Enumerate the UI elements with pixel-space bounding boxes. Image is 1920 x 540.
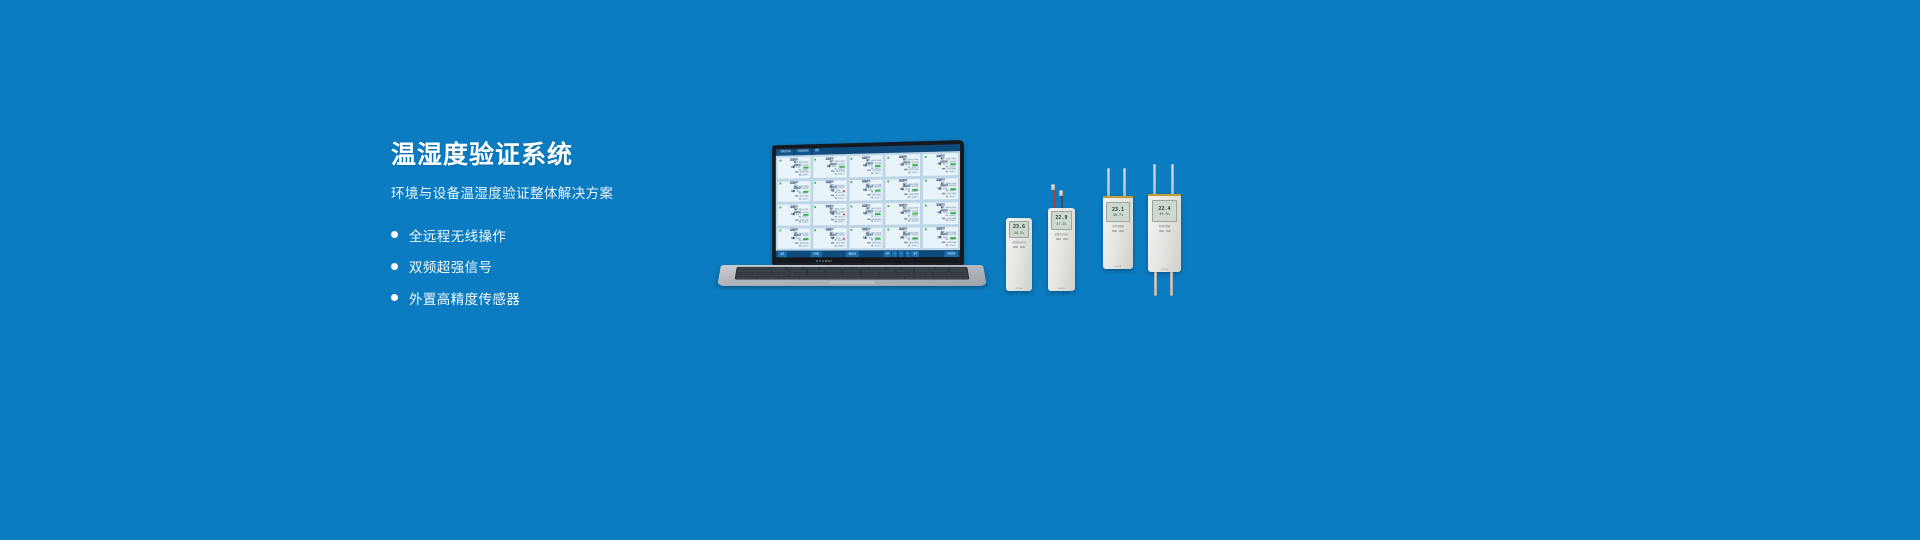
field-value: 22.93 °C <box>802 198 808 201</box>
sensor-card[interactable]: 温湿度01编号BD01-T1001采集时间10:22:08电量77.8%T122… <box>777 156 812 179</box>
field-label: 电量 <box>791 238 795 241</box>
lcd-temperature: 23.1 <box>1112 207 1124 213</box>
device-keypad[interactable] <box>1112 230 1124 233</box>
field-value: 23.02 °C <box>874 173 881 176</box>
page-2[interactable]: 2 <box>899 251 904 257</box>
device-keypad[interactable] <box>1159 230 1171 233</box>
laptop-screen: 温湿度记录仪 环境监测系统 帮助 温湿度01编号BD01-T1001采集时间10… <box>776 144 960 257</box>
field-label: 电量 <box>830 238 834 241</box>
sensor-card[interactable]: 温湿度20编号BD01-T1020采集时间10:22:08电量94.6%T122… <box>922 226 959 250</box>
field-value: 22.68 °C <box>802 174 808 177</box>
field-value: 23.10 °C <box>838 197 844 200</box>
status-led-icon <box>887 205 889 207</box>
status-led-icon <box>925 180 927 182</box>
lcd-humidity: 49.0% <box>1159 212 1169 216</box>
field-label: T2 <box>946 196 948 199</box>
app-toolbar: 更多 打印报 数据导出 首页 1 2 3 末页 退出登录 <box>776 250 960 257</box>
page-last[interactable]: 末页 <box>911 251 919 257</box>
laptop-touchpad <box>828 280 875 285</box>
laptop-base <box>717 265 987 286</box>
sensor-card[interactable]: 温湿度05编号BD01-T1005采集时间10:22:08电量91.5%T122… <box>922 152 959 176</box>
field-label: 电量 <box>900 189 904 192</box>
sensor-card[interactable]: 温湿度07编号BD01-T1007采集时间10:22:08电量12.4%T123… <box>812 179 847 202</box>
page-subtitle: 环境与设备温湿度验证整体解决方案 <box>391 185 721 204</box>
sensor-card[interactable]: 温湿度14编号BD01-T1014采集时间10:22:08电量92.1%T122… <box>885 202 921 226</box>
sensor-card-fields: 编号BD01-T1011采集时间10:22:08电量55.2%T122.99 °… <box>779 209 808 224</box>
sensor-card[interactable]: 温湿度08编号BD01-T1008采集时间10:22:08电量86.3%T122… <box>848 178 884 202</box>
sensor-card-fields: 编号BD01-T1013采集时间10:22:08电量83.7%T122.77 °… <box>851 208 881 224</box>
key <box>736 277 757 279</box>
field-label: 电量 <box>827 166 831 169</box>
status-led-icon <box>925 155 927 157</box>
device-key[interactable] <box>1020 246 1025 249</box>
field-label: T2 <box>908 196 910 199</box>
feature-label: 全远程无线操作 <box>409 225 506 245</box>
probe-tip <box>1051 184 1055 190</box>
status-led-icon <box>779 183 781 185</box>
field-label: 电量 <box>791 214 795 217</box>
sensor-card-row: T223.02 °C <box>851 173 881 176</box>
sensor-card-fields: 编号BD01-T1004采集时间10:22:08电量64.7%T122.81 °… <box>888 159 919 175</box>
status-led-icon <box>779 159 781 161</box>
field-label: T2 <box>835 174 837 177</box>
pagination: 首页 1 2 3 末页 <box>883 251 919 257</box>
field-label: T2 <box>946 245 948 248</box>
tab-recorder[interactable]: 温湿度记录仪 <box>779 149 793 155</box>
field-label: T2 <box>871 173 873 176</box>
sensor-card[interactable]: 温湿度18编号BD01-T1018采集时间10:22:08电量76.5%T122… <box>848 226 884 249</box>
field-label: 电量 <box>900 237 904 240</box>
field-label: 电量 <box>791 191 795 194</box>
field-label: T2 <box>799 198 801 201</box>
device-label: 温湿度记录仪 <box>1055 232 1069 236</box>
banner-copy: 温湿度验证系统 环境与设备温湿度验证整体解决方案 全远程无线操作 双频超强信号 … <box>391 140 721 319</box>
field-label: T2 <box>835 245 837 248</box>
field-value: 22.88 °C <box>912 196 919 199</box>
sensor-card-fields: 编号BD01-T1019采集时间10:22:08电量67.2%T122.90 °… <box>888 232 919 248</box>
lcd-temperature: 23.6 <box>1013 224 1025 230</box>
sensor-card-row: T223.05 °C <box>815 221 845 224</box>
field-label: T2 <box>908 245 910 248</box>
field-label: T2 <box>946 220 948 223</box>
sensor-card-row: T223.08 °C <box>815 245 845 248</box>
sensor-device-group: 23.6 48.2% 温湿度记录仪 BODA 22.9 47.5% <box>1000 182 1215 307</box>
field-label: 电量 <box>900 165 904 168</box>
field-label: 电量 <box>937 188 941 191</box>
list-item: 双频超强信号 <box>391 256 721 276</box>
print-button[interactable]: 打印报 <box>811 251 822 257</box>
gold-band <box>1103 196 1133 198</box>
laptop-lid: 温湿度记录仪 环境监测系统 帮助 温湿度01编号BD01-T1001采集时间10… <box>772 140 964 265</box>
handheld-logger-2: 22.9 47.5% 温湿度记录仪 BODA <box>1048 208 1075 291</box>
gold-band <box>1148 194 1181 196</box>
field-value: 22.77 °C <box>874 221 881 224</box>
field-label: 电量 <box>900 213 904 216</box>
export-button[interactable]: 数据导出 <box>846 251 859 257</box>
sensor-card[interactable]: 温湿度04编号BD01-T1004采集时间10:22:08电量64.7%T122… <box>885 153 921 177</box>
sensor-card[interactable]: 温湿度17编号BD01-T1017采集时间10:22:08电量10.9%T123… <box>812 227 847 250</box>
device-label: 外置传感器 <box>1159 224 1170 228</box>
page-3[interactable]: 3 <box>905 251 910 257</box>
sensor-card-row: T222.81 °C <box>888 172 919 175</box>
device-logo: BODA <box>1115 266 1121 268</box>
more-button[interactable]: 更多 <box>778 252 787 258</box>
sensor-card-grid: 温湿度01编号BD01-T1001采集时间10:22:08电量77.8%T122… <box>776 151 960 251</box>
list-item: 全远程无线操作 <box>391 225 721 245</box>
field-label: T2 <box>835 221 837 224</box>
lcd-humidity: 47.5% <box>1056 222 1066 226</box>
field-label: T2 <box>871 245 873 248</box>
device-logo: BODA <box>1058 288 1064 290</box>
sensor-card-fields: 编号BD01-T1007采集时间10:22:08电量12.4%T123.10 °… <box>815 185 845 201</box>
sensor-card-fields: 编号BD01-T1006采集时间10:22:08电量78.9%T122.93 °… <box>779 185 808 200</box>
spacebar <box>800 277 903 279</box>
sensor-card[interactable]: 温湿度09编号BD01-T1009采集时间10:22:08电量74.0%T122… <box>885 177 921 201</box>
field-value: 22.99 °C <box>802 222 808 225</box>
key <box>904 277 925 279</box>
product-banner: 温湿度验证系统 环境与设备温湿度验证整体解决方案 全远程无线操作 双频超强信号 … <box>0 0 1920 540</box>
sensor-card-row: T222.68 °C <box>779 174 808 177</box>
sensor-card-fields: 编号BD01-T1016采集时间10:22:08电量88.4%T122.95 °… <box>779 233 808 248</box>
antenna-right <box>1171 164 1174 198</box>
device-logo: BODA <box>1016 288 1022 290</box>
sensor-card-row: T222.64 °C <box>815 174 845 177</box>
field-value: 22.72 °C <box>874 197 881 200</box>
field-label: T2 <box>799 245 801 248</box>
probe-tip <box>1059 190 1063 196</box>
sensor-stem-left <box>1154 272 1157 296</box>
list-item: 外置高精度传感器 <box>391 288 721 308</box>
field-label: 电量 <box>830 190 834 193</box>
laptop-brand-label: HUAWEI <box>816 259 833 263</box>
key <box>926 277 947 279</box>
sensor-card-row: T222.61 °C <box>925 196 956 199</box>
device-keypad[interactable] <box>1013 246 1025 249</box>
sensor-card-fields: 编号BD01-T1001采集时间10:22:08电量77.8%T122.68 °… <box>779 162 808 178</box>
sensor-card-row: T222.66 °C <box>925 220 956 223</box>
lcd-temperature: 22.9 <box>1055 215 1067 221</box>
sensor-card-fields: 编号BD01-T1010采集时间10:22:08电量69.8%T122.61 °… <box>925 183 956 199</box>
sensor-card-row: T222.88 °C <box>888 196 919 199</box>
laptop-keyboard <box>735 267 970 280</box>
status-led-icon <box>779 206 781 208</box>
sensor-card-fields: 编号BD01-T1017采集时间10:22:08电量10.9%T123.08 °… <box>815 233 845 248</box>
sensor-card-fields: 编号BD01-T1003采集时间10:22:08电量80.1%T123.02 °… <box>851 160 881 176</box>
field-label: 电量 <box>937 164 941 167</box>
sensor-card-row: T222.70 °C <box>851 245 881 248</box>
sensor-card-row: T222.77 °C <box>851 221 881 224</box>
logout-button[interactable]: 退出登录 <box>944 251 958 257</box>
status-led-icon <box>925 204 927 206</box>
handheld-logger-1: 23.6 48.2% 温湿度记录仪 BODA <box>1006 218 1032 291</box>
sensor-card-row: T222.93 °C <box>779 198 808 201</box>
feature-list: 全远程无线操作 双频超强信号 外置高精度传感器 <box>391 225 721 308</box>
lcd-humidity: 48.7% <box>1113 213 1123 217</box>
key-row <box>736 277 968 279</box>
bullet-dot-icon <box>391 294 398 301</box>
tab-monitoring[interactable]: 环境监测系统 <box>796 149 811 155</box>
sensor-card-fields: 编号BD01-T1005采集时间10:22:08电量91.5%T122.55 °… <box>925 158 956 174</box>
sensor-card-row: T223.10 °C <box>815 197 845 200</box>
key <box>947 277 968 279</box>
status-led-icon <box>887 156 889 158</box>
bullet-dot-icon <box>391 231 398 238</box>
sensor-card-row: T222.58 °C <box>925 245 956 248</box>
sensor-card-row: T222.99 °C <box>779 222 808 225</box>
bullet-dot-icon <box>391 263 398 270</box>
sensor-card[interactable]: 温湿度06编号BD01-T1006采集时间10:22:08电量78.9%T122… <box>777 180 812 203</box>
field-value: 22.90 °C <box>912 245 919 248</box>
sensor-card[interactable]: 温湿度16编号BD01-T1016采集时间10:22:08电量88.4%T122… <box>777 227 812 250</box>
field-value: 22.70 °C <box>874 245 881 248</box>
field-value: 23.08 °C <box>838 245 844 248</box>
sensor-card-row: T222.90 °C <box>888 245 919 248</box>
field-label: 电量 <box>937 213 941 216</box>
status-led-icon <box>851 157 853 159</box>
field-value: 22.55 °C <box>949 171 956 174</box>
sensor-card-fields: 编号BD01-T1012采集时间10:22:08电量09.6%T123.05 °… <box>815 209 845 224</box>
field-value: 22.95 °C <box>802 245 808 248</box>
field-label: T2 <box>946 171 948 174</box>
lcd-humidity: 48.2% <box>1014 231 1024 235</box>
device-label: 外置传感器 <box>1112 224 1123 228</box>
sensor-card[interactable]: 温湿度02编号BD01-T1002采集时间10:22:08电量98.2%T122… <box>812 155 847 179</box>
field-label: 电量 <box>863 237 867 240</box>
sensor-card-fields: 编号BD01-T1002采集时间10:22:08电量98.2%T122.64 °… <box>815 161 845 177</box>
sensor-card[interactable]: 温湿度03编号BD01-T1003采集时间10:22:08电量80.1%T123… <box>848 154 884 178</box>
page-first[interactable]: 首页 <box>883 251 891 257</box>
sensor-card-fields: 编号BD01-T1009采集时间10:22:08电量74.0%T122.88 °… <box>888 183 919 199</box>
device-key[interactable] <box>1063 238 1068 241</box>
key <box>779 277 800 279</box>
field-label: 电量 <box>863 213 867 216</box>
sensor-card-fields: 编号BD01-T1018采集时间10:22:08电量76.5%T122.70 °… <box>851 232 881 247</box>
field-label: 电量 <box>863 189 867 192</box>
sensor-card[interactable]: 温湿度13编号BD01-T1013采集时间10:22:08电量83.7%T122… <box>848 202 884 225</box>
field-label: T2 <box>908 221 910 224</box>
sensor-card-fields: 编号BD01-T1015采集时间10:22:08电量71.3%T122.66 °… <box>925 207 956 223</box>
feature-label: 外置高精度传感器 <box>409 288 520 308</box>
device-label: 温湿度记录仪 <box>1012 240 1026 244</box>
field-value: 22.66 °C <box>949 220 956 223</box>
sensor-card-row: T222.72 °C <box>851 197 881 200</box>
sensor-stem-right <box>1170 272 1173 296</box>
field-label: 电量 <box>937 237 941 240</box>
device-key[interactable] <box>1013 246 1018 249</box>
field-label: T2 <box>799 222 801 225</box>
probe-logger-1: 23.1 48.7% 外置传感器 BODA <box>1103 196 1133 269</box>
page-title: 温湿度验证系统 <box>391 140 721 170</box>
status-led-icon <box>887 181 889 183</box>
device-key[interactable] <box>1119 230 1124 233</box>
antenna-left <box>1153 164 1156 198</box>
field-label: T2 <box>799 174 801 177</box>
field-value: 22.58 °C <box>949 245 956 248</box>
sensor-card-fields: 编号BD01-T1008采集时间10:22:08电量86.3%T122.72 °… <box>851 184 881 200</box>
device-keypad[interactable] <box>1056 238 1068 241</box>
sensor-card[interactable]: 温湿度10编号BD01-T1010采集时间10:22:08电量69.8%T122… <box>922 177 959 201</box>
field-label: T2 <box>871 197 873 200</box>
lcd-temperature: 22.4 <box>1158 206 1170 212</box>
device-key[interactable] <box>1166 230 1171 233</box>
device-logo: BODA <box>1161 269 1167 271</box>
field-value: 22.64 °C <box>838 174 844 177</box>
probe-logger-2: 22.4 49.0% 外置传感器 BODA <box>1148 194 1181 272</box>
feature-label: 双频超强信号 <box>409 256 492 276</box>
tab-help[interactable]: 帮助 <box>813 148 820 154</box>
field-label: T2 <box>871 221 873 224</box>
device-key[interactable] <box>1112 230 1117 233</box>
field-label: T2 <box>835 198 837 201</box>
field-value: 22.84 °C <box>912 221 919 224</box>
sensor-card[interactable]: 温湿度15编号BD01-T1015采集时间10:22:08电量71.3%T122… <box>922 201 959 225</box>
field-value: 22.61 °C <box>949 196 956 199</box>
sensor-card-fields: 编号BD01-T1014采集时间10:22:08电量92.1%T122.84 °… <box>888 208 919 224</box>
field-label: 电量 <box>791 167 795 170</box>
status-led-icon <box>851 205 853 207</box>
sensor-card[interactable]: 温湿度19编号BD01-T1019采集时间10:22:08电量67.2%T122… <box>885 226 921 249</box>
device-key[interactable] <box>1159 230 1164 233</box>
field-value: 22.81 °C <box>912 172 919 175</box>
page-1[interactable]: 1 <box>893 251 898 257</box>
sensor-card-row: T222.84 °C <box>888 221 919 224</box>
sensor-card[interactable]: 温湿度11编号BD01-T1011采集时间10:22:08电量55.2%T122… <box>777 203 812 226</box>
field-label: T2 <box>908 172 910 175</box>
sensor-card-fields: 编号BD01-T1020采集时间10:22:08电量94.6%T122.58 °… <box>925 232 956 248</box>
field-label: 电量 <box>830 214 834 217</box>
field-label: 电量 <box>863 165 867 168</box>
device-key[interactable] <box>1056 238 1061 241</box>
sensor-card-row: T222.55 °C <box>925 171 956 174</box>
field-value: 23.05 °C <box>838 221 844 224</box>
key <box>757 277 778 279</box>
sensor-card[interactable]: 温湿度12编号BD01-T1012采集时间10:22:08电量09.6%T123… <box>812 203 847 226</box>
laptop-illustration: 温湿度记录仪 环境监测系统 帮助 温湿度01编号BD01-T1001采集时间10… <box>721 140 986 298</box>
sensor-card-row: T222.95 °C <box>779 245 808 248</box>
